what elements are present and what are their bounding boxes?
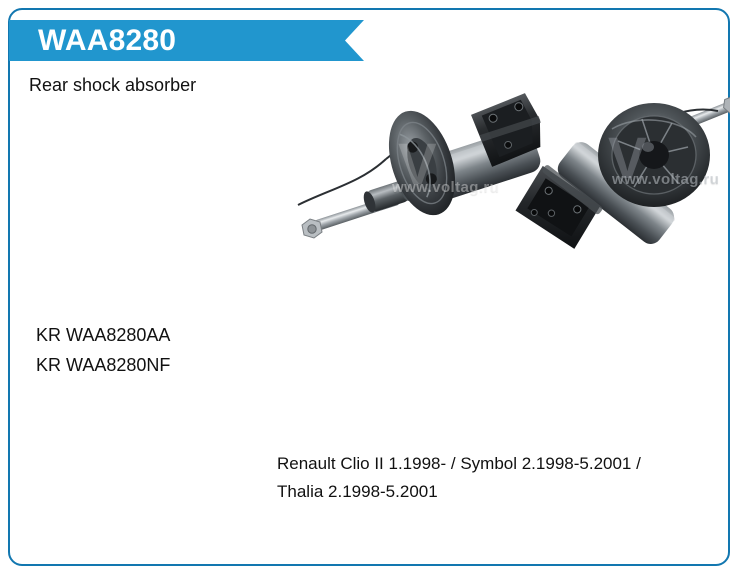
product-code-title: WAA8280 (38, 26, 176, 56)
strut-right (511, 94, 730, 254)
part-number-primary: KR WAA8280AA (36, 320, 170, 350)
title-ribbon: WAA8280 (9, 20, 364, 61)
vehicle-application-text: Renault Clio II 1.1998- / Symbol 2.1998-… (277, 450, 667, 506)
part-number-list: KR WAA8280AA KR WAA8280NF (36, 320, 170, 380)
shock-absorber-illustration (290, 85, 730, 270)
ribbon-notch-icon (345, 20, 364, 61)
product-datasheet-page: WAA8280 Rear shock absorber (0, 0, 740, 576)
strut-left (298, 91, 549, 238)
product-photo: V www.voltag.ru V www.voltag.ru (290, 85, 730, 270)
part-number-secondary: KR WAA8280NF (36, 350, 170, 380)
product-description: Rear shock absorber (29, 75, 196, 96)
